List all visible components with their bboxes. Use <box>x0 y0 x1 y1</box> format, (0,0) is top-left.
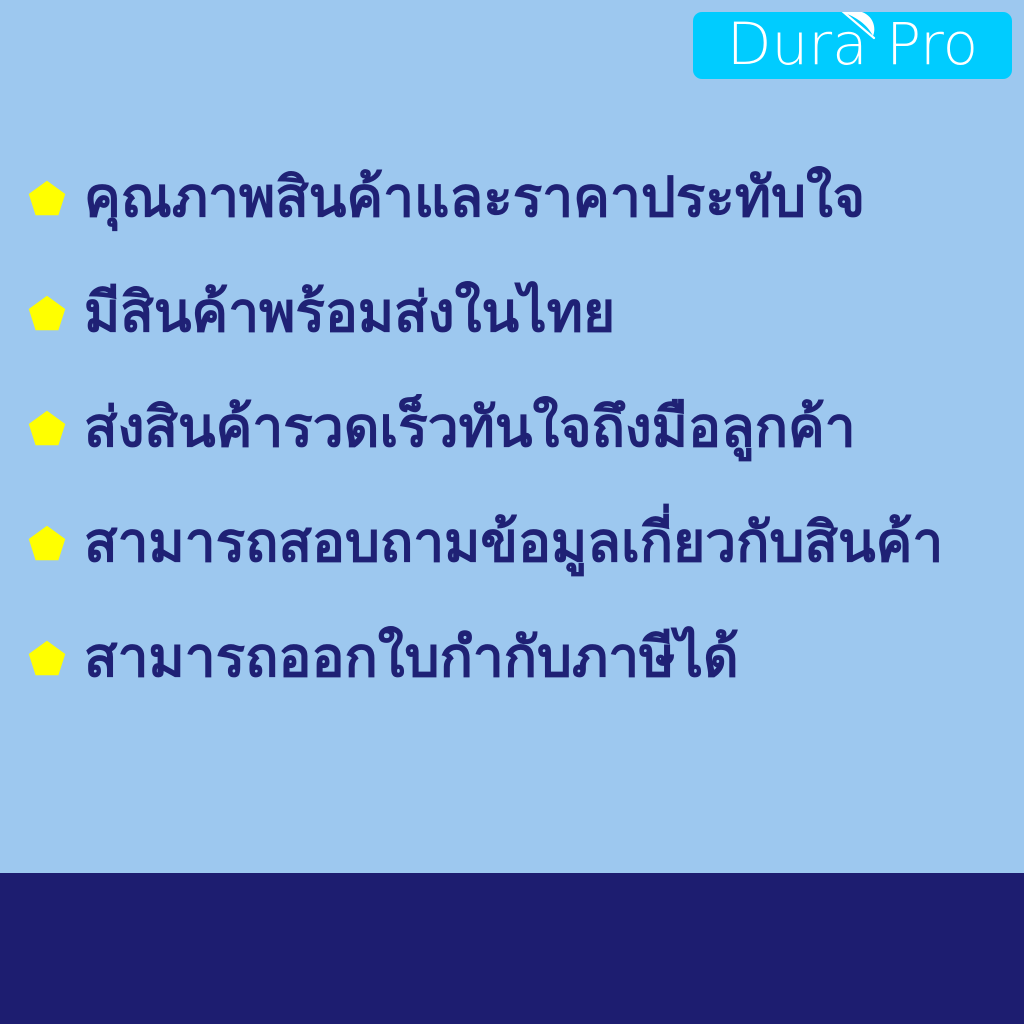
bullet-label: คุณภาพสินค้าและราคาประทับใจ <box>84 169 865 225</box>
brand-logo-text: Dura Pro <box>727 15 978 76</box>
feature-bullet-list: คุณภาพสินค้าและราคาประทับใจ มีสินค้าพร้อ… <box>0 140 1024 715</box>
brand-logo-badge: Dura Pro <box>693 12 1012 79</box>
pentagon-bullet-icon <box>28 409 66 447</box>
list-item: สามารถสอบถามข้อมูลเกี่ยวกับสินค้า <box>0 485 1024 600</box>
bullet-label: ส่งสินค้ารวดเร็วทันใจถึงมือลูกค้า <box>84 399 856 455</box>
promo-banner: Dura Pro คุณภาพสินค้าและราคาประทับใจ มีส… <box>0 0 1024 1024</box>
list-item: มีสินค้าพร้อมส่งในไทย <box>0 255 1024 370</box>
pentagon-bullet-icon <box>28 639 66 677</box>
bullet-label: สามารถสอบถามข้อมูลเกี่ยวกับสินค้า <box>84 514 943 570</box>
pentagon-bullet-icon <box>28 179 66 217</box>
brand-logo-wrap: Dura Pro <box>727 15 978 76</box>
list-item: ส่งสินค้ารวดเร็วทันใจถึงมือลูกค้า <box>0 370 1024 485</box>
pentagon-bullet-icon <box>28 524 66 562</box>
bullet-label: มีสินค้าพร้อมส่งในไทย <box>84 284 615 340</box>
bullet-label: สามารถออกใบกำกับภาษีได้ <box>84 629 739 685</box>
pentagon-bullet-icon <box>28 294 66 332</box>
list-item: คุณภาพสินค้าและราคาประทับใจ <box>0 140 1024 255</box>
bottom-color-band <box>0 873 1024 1024</box>
list-item: สามารถออกใบกำกับภาษีได้ <box>0 600 1024 715</box>
